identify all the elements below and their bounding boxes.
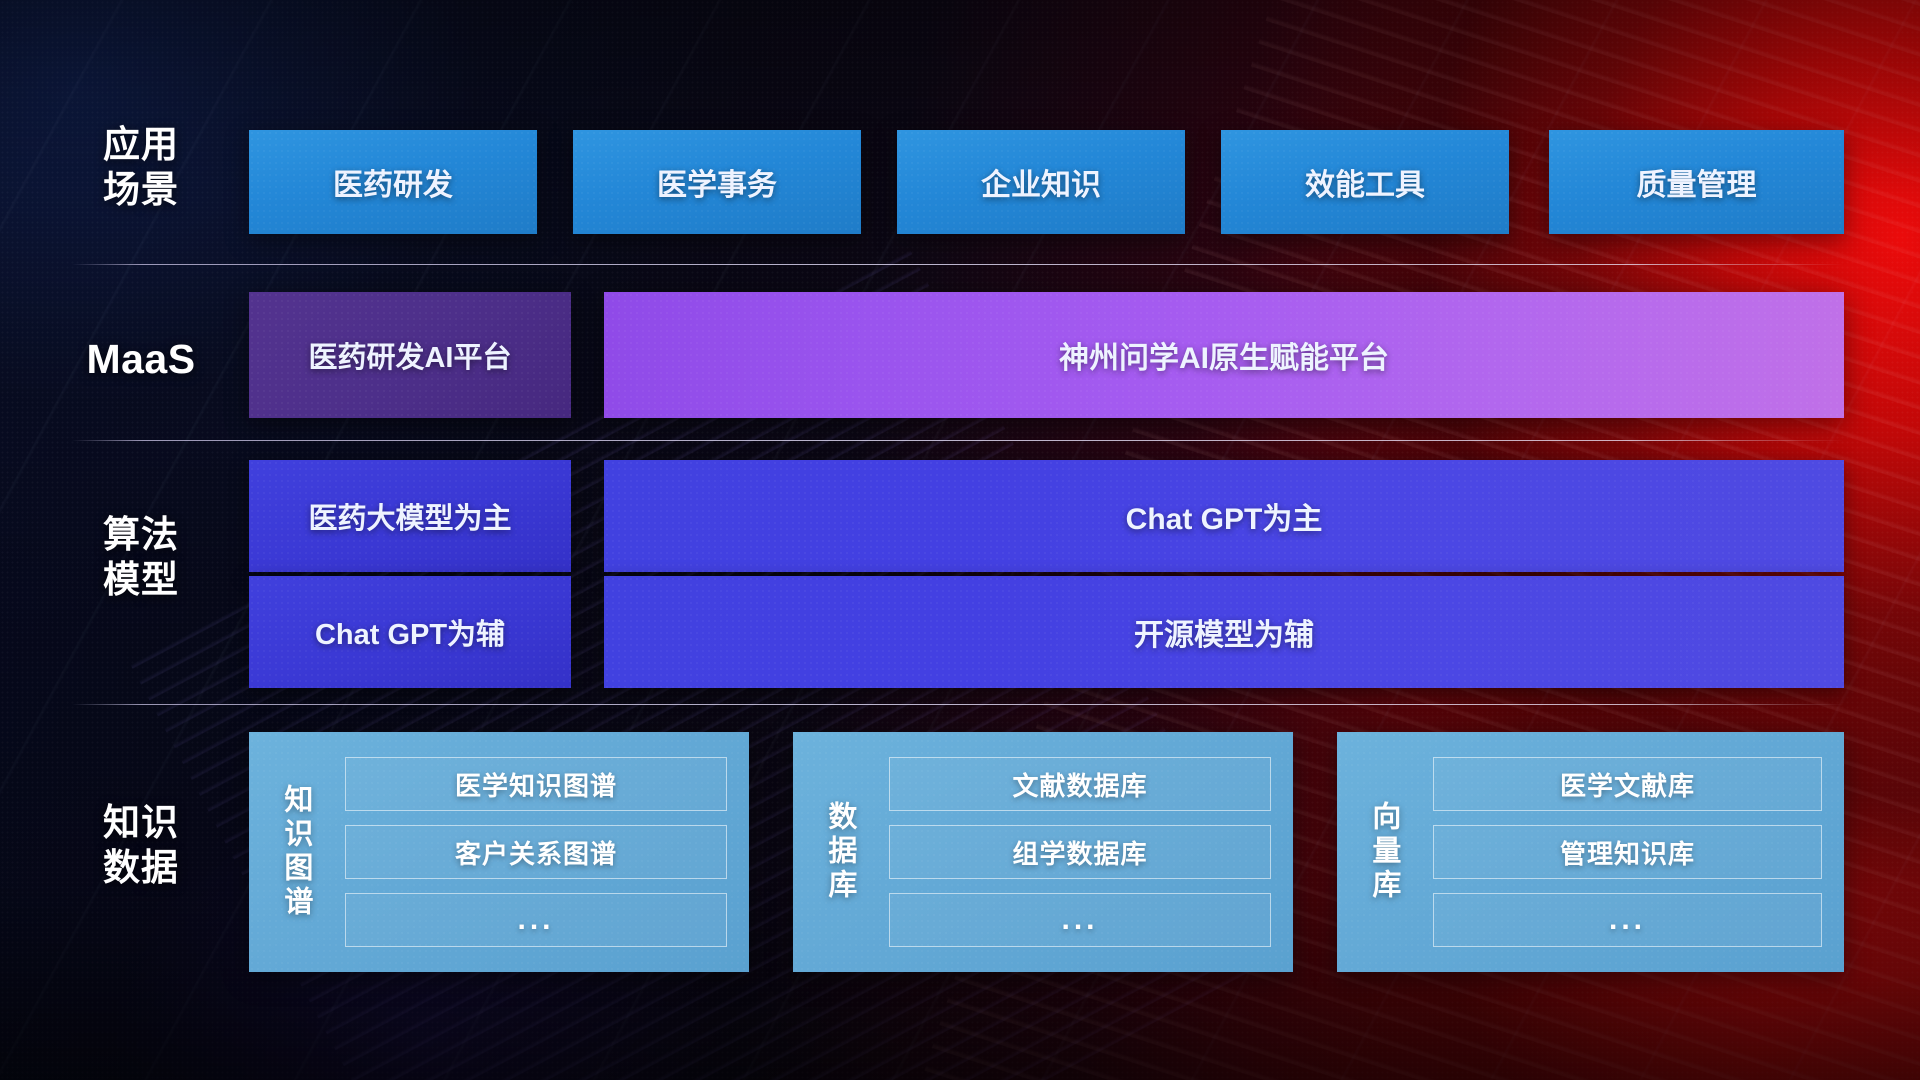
algorithm-box-left-1[interactable]: 医药大模型为主	[249, 460, 571, 572]
app-scenario-box-4[interactable]: 效能工具	[1221, 130, 1509, 234]
row-label-algorithm: 算法 模型	[72, 512, 210, 602]
knowledge-panel-2-items: 文献数据库 组学数据库 ...	[885, 732, 1293, 972]
app-scenario-label-1: 医药研发	[333, 160, 453, 204]
algorithm-label-left-2: Chat GPT为辅	[315, 611, 505, 653]
algorithm-box-right-2[interactable]: 开源模型为辅	[604, 576, 1844, 688]
algorithm-label-left-1: 医药大模型为主	[308, 495, 511, 537]
knowledge-item-3-2[interactable]: 管理知识库	[1433, 825, 1822, 879]
maas-platform-box-right[interactable]: 神州问学AI原生赋能平台	[604, 292, 1844, 418]
knowledge-item-2-2[interactable]: 组学数据库	[889, 825, 1271, 879]
knowledge-item-3-1[interactable]: 医学文献库	[1433, 757, 1822, 811]
knowledge-panel-2-title: 数据库	[793, 732, 885, 972]
algorithm-label-right-1: Chat GPT为主	[1126, 494, 1323, 538]
knowledge-item-1-3[interactable]: ...	[345, 893, 727, 947]
knowledge-panel-3-title: 向量库	[1337, 732, 1429, 972]
knowledge-panel-1-items: 医学知识图谱 客户关系图谱 ...	[341, 732, 749, 972]
knowledge-item-2-1[interactable]: 文献数据库	[889, 757, 1271, 811]
algorithm-label-right-2: 开源模型为辅	[1134, 610, 1314, 654]
algorithm-box-left-2[interactable]: Chat GPT为辅	[249, 576, 571, 688]
divider-application-maas	[72, 264, 1844, 265]
app-scenario-box-5[interactable]: 质量管理	[1549, 130, 1844, 234]
knowledge-panel-3[interactable]: 向量库 医学文献库 管理知识库 ...	[1337, 732, 1844, 972]
divider-algorithm-knowledge	[72, 704, 1844, 705]
divider-maas-algorithm	[72, 440, 1844, 441]
maas-platform-right-label: 神州问学AI原生赋能平台	[1059, 333, 1389, 377]
app-scenario-label-4: 效能工具	[1305, 160, 1425, 204]
row-label-knowledge: 知识 数据	[72, 800, 210, 890]
algorithm-box-right-1[interactable]: Chat GPT为主	[604, 460, 1844, 572]
app-scenario-box-3[interactable]: 企业知识	[897, 130, 1185, 234]
knowledge-panel-1-title: 知识图谱	[249, 732, 341, 972]
knowledge-panel-3-items: 医学文献库 管理知识库 ...	[1429, 732, 1844, 972]
app-scenario-label-3: 企业知识	[981, 160, 1101, 204]
row-label-application: 应用 场景	[72, 122, 210, 212]
knowledge-panel-2[interactable]: 数据库 文献数据库 组学数据库 ...	[793, 732, 1293, 972]
knowledge-item-2-3[interactable]: ...	[889, 893, 1271, 947]
app-scenario-box-2[interactable]: 医学事务	[573, 130, 861, 234]
app-scenario-label-5: 质量管理	[1637, 160, 1757, 204]
knowledge-item-3-3[interactable]: ...	[1433, 893, 1822, 947]
slide-canvas: 应用 场景 医药研发 医学事务 企业知识 效能工具 质量管理 MaaS 医药研发…	[0, 0, 1920, 1080]
app-scenario-box-1[interactable]: 医药研发	[249, 130, 537, 234]
row-label-maas: MaaS	[72, 334, 210, 384]
knowledge-item-1-2[interactable]: 客户关系图谱	[345, 825, 727, 879]
maas-platform-box-left[interactable]: 医药研发AI平台	[249, 292, 571, 418]
knowledge-item-1-1[interactable]: 医学知识图谱	[345, 757, 727, 811]
app-scenario-label-2: 医学事务	[657, 160, 777, 204]
maas-platform-left-label: 医药研发AI平台	[308, 334, 511, 376]
knowledge-panel-1[interactable]: 知识图谱 医学知识图谱 客户关系图谱 ...	[249, 732, 749, 972]
